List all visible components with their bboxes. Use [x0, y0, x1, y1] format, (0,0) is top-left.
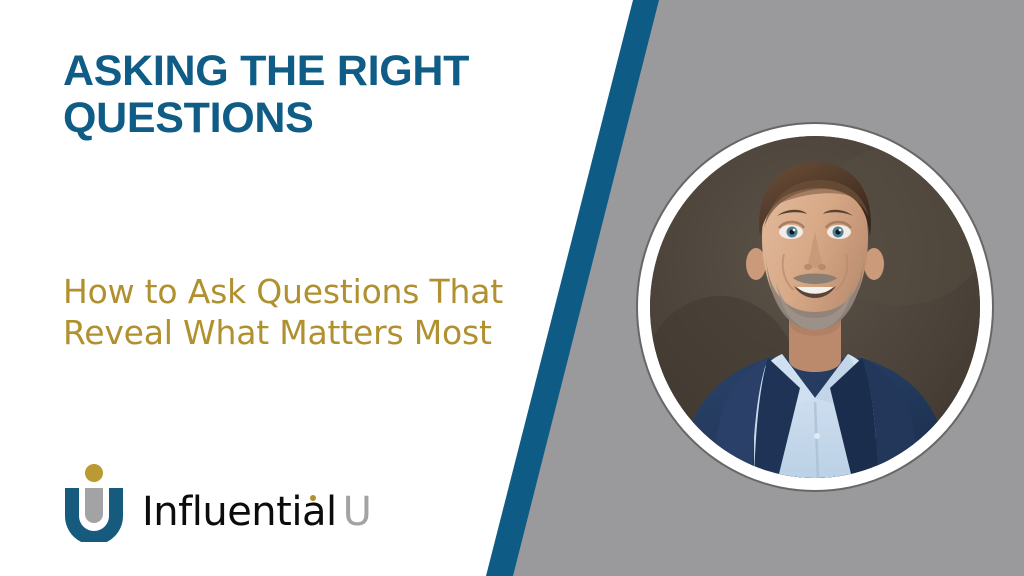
- slide-subtitle: How to Ask Questions That Reveal What Ma…: [63, 271, 533, 353]
- left-content-column: Asking The Right Questions How to Ask Qu…: [63, 0, 533, 576]
- logo-gold-dot-icon: [310, 495, 316, 501]
- speaker-portrait: [638, 124, 992, 490]
- presentation-slide: Asking The Right Questions How to Ask Qu…: [0, 0, 1024, 576]
- logo-word-influential: Influential: [142, 489, 337, 535]
- influential-u-mark-icon: [63, 464, 125, 542]
- influential-u-logo[interactable]: InfluentialU: [63, 462, 371, 542]
- logo-word-u: U: [343, 489, 372, 535]
- logo-wordmark: InfluentialU: [142, 490, 371, 534]
- portrait-image: [650, 136, 980, 478]
- slide-title: Asking The Right Questions: [63, 48, 493, 142]
